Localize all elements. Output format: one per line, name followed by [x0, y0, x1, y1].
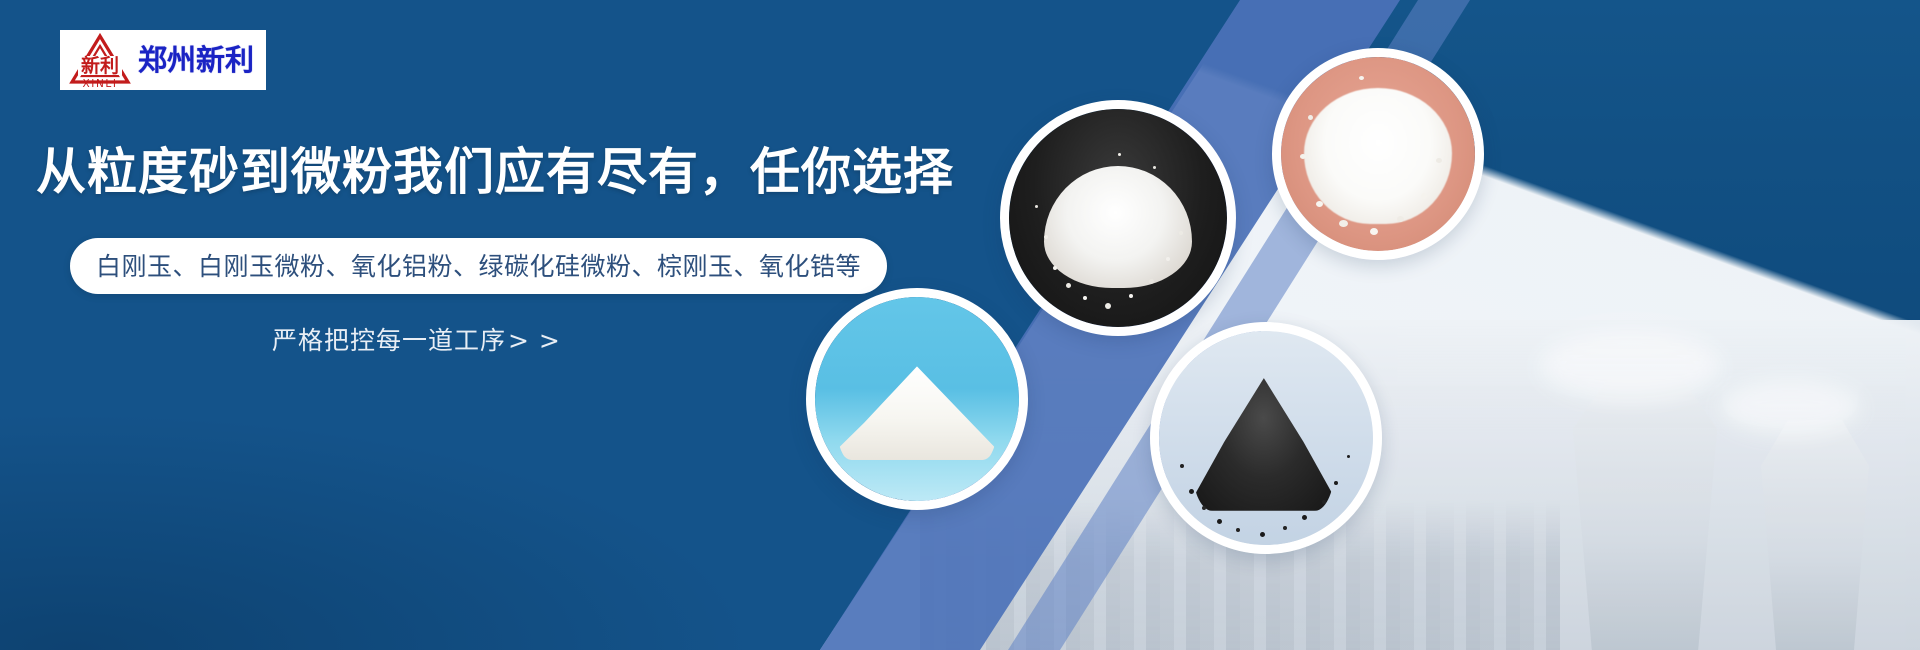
svg-text:新利: 新利 [81, 54, 119, 77]
product-list-pill: 白刚玉、白刚玉微粉、氧化铝粉、绿碳化硅微粉、棕刚玉、氧化锆等 [70, 238, 887, 294]
chevron-right-icon: > > [508, 328, 561, 353]
promo-banner: 新利 XINLI 郑州新利 从粒度砂到微粉我们应有尽有，任你选择 白刚玉、白刚玉… [0, 0, 1920, 650]
product-photo-white-grit-on-black[interactable] [1000, 100, 1236, 336]
zhengzhou-xinli-logo[interactable]: 新利 XINLI 郑州新利 [60, 30, 266, 90]
cooling-tower-icon [1550, 380, 1740, 650]
product-photo-black-grit-on-lightblue[interactable] [1150, 322, 1382, 554]
scattered-grains [1009, 109, 1227, 327]
scattered-grains [1159, 331, 1373, 545]
product-photo-inner [1009, 109, 1227, 327]
product-photo-inner [1281, 57, 1475, 251]
product-list-text: 白刚玉、白刚玉微粉、氧化铝粉、绿碳化硅微粉、棕刚玉、氧化锆等 [96, 254, 861, 279]
product-photo-white-powder-on-cyan[interactable] [806, 288, 1028, 510]
scattered-grains [1281, 57, 1475, 251]
xinli-triangle-icon: 新利 XINLI [68, 32, 132, 88]
tagline-link[interactable]: 严格把控每一道工序 > > [272, 328, 561, 353]
tagline-text: 严格把控每一道工序 [272, 328, 506, 353]
material-mound [839, 366, 994, 460]
headline-text: 从粒度砂到微粉我们应有尽有，任你选择 [36, 147, 954, 197]
corner-vignette [0, 410, 760, 650]
svg-text:XINLI: XINLI [82, 78, 117, 88]
smoke-plume [1720, 380, 1860, 435]
product-photo-inner [1159, 331, 1373, 545]
logo-wordmark: 郑州新利 [138, 46, 254, 75]
smoke-plume [1540, 330, 1720, 400]
product-photo-inner [815, 297, 1019, 501]
cooling-tower-icon [1740, 420, 1890, 650]
product-photo-white-powder-on-salmon[interactable] [1272, 48, 1484, 260]
